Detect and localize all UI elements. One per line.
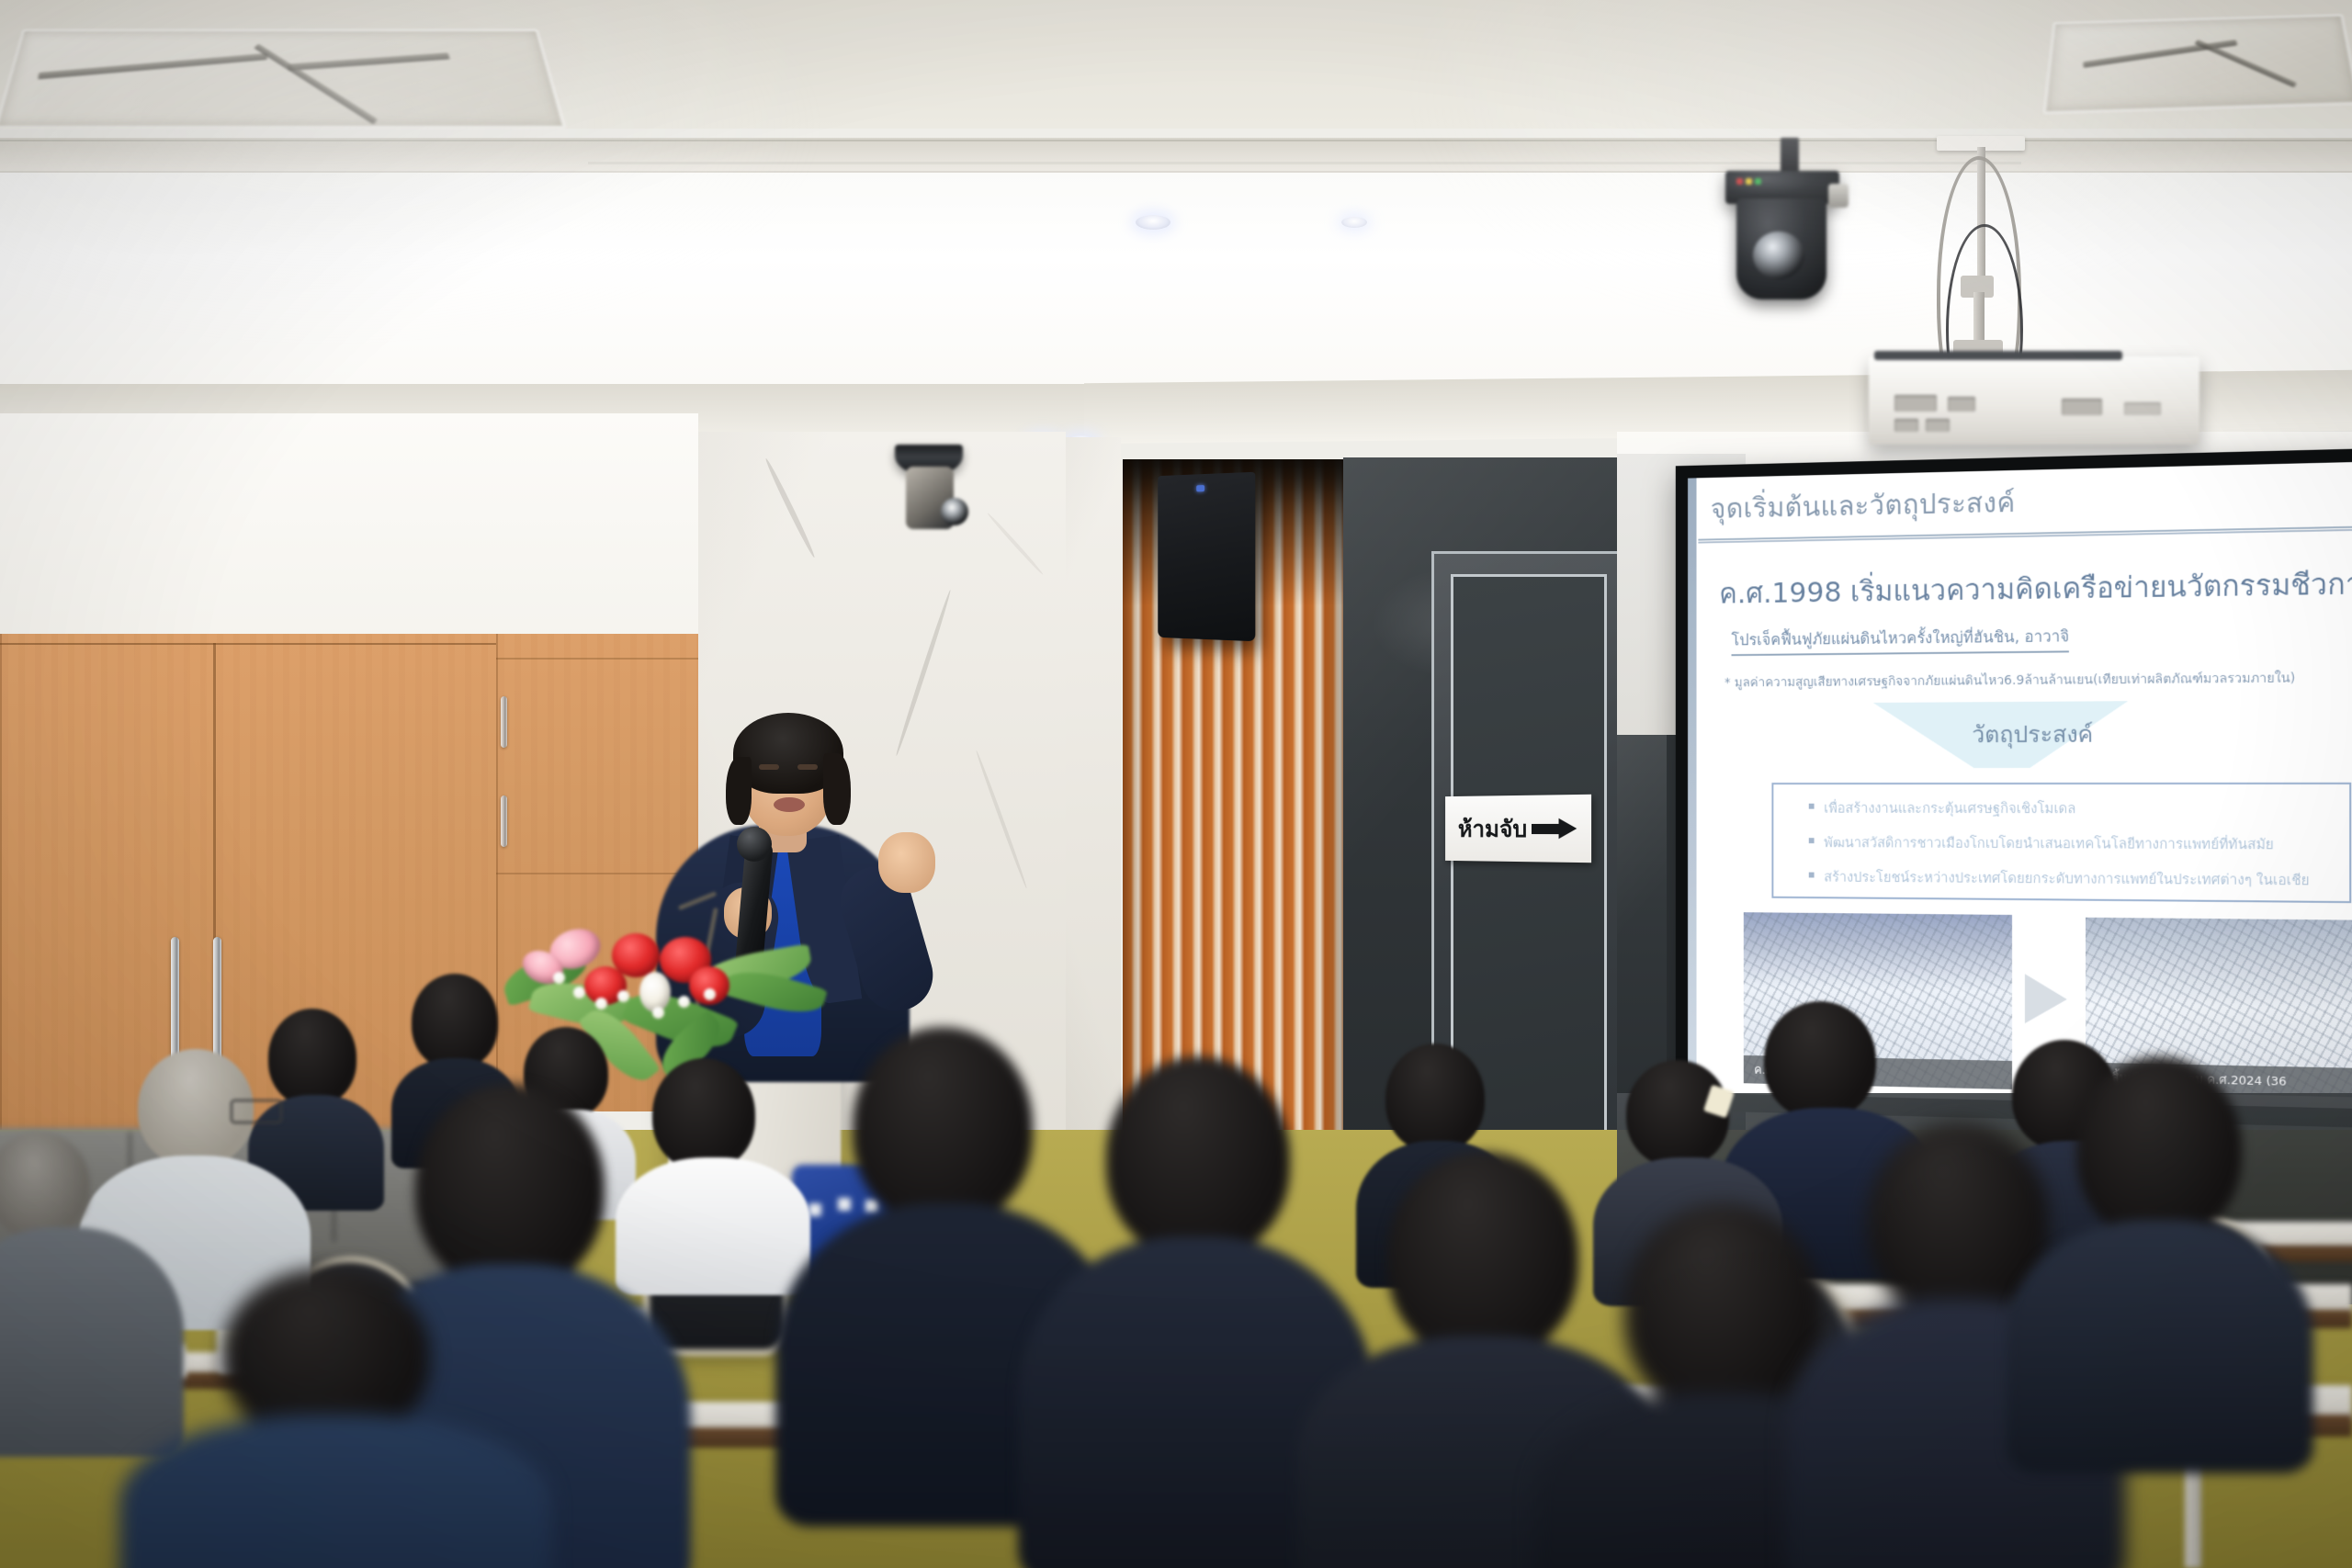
audience-person <box>2034 1056 2282 1451</box>
wall-speaker <box>1158 472 1255 642</box>
ceiling-projector <box>1869 356 2199 445</box>
speaker-led-icon <box>1196 485 1204 491</box>
audience-person <box>147 1268 514 1568</box>
objective-text: พัฒนาสวัสดิการชาวเมืองโกเบโดยนำเสนอเทคโน… <box>1824 831 2274 855</box>
slide-title: จุดเริ่มต้นและวัตถุประสงค์ <box>1711 481 2016 531</box>
bullet-icon <box>1809 804 1815 809</box>
microphone-head-icon <box>737 827 772 862</box>
objective-text: เพื่อสร้างงานและกระตุ้นเศรษฐกิจเชิงโมเดล <box>1824 797 2075 819</box>
ceiling-ac-vent <box>0 29 566 129</box>
bullet-icon <box>1809 838 1815 843</box>
conference-hall-photo: ห้ามจับ จุดเริ่มต้นและวัตถุประสงค์ <box>0 0 2352 1568</box>
pillar-ptz-camera <box>882 445 992 546</box>
objectives-box: เพื่อสร้างงานและกระตุ้นเศรษฐกิจเชิงโมเดล… <box>1771 783 2351 903</box>
warning-sign-label: ห้ามจับ <box>1458 817 1527 840</box>
objective-item: เพื่อสร้างงานและกระตุ้นเศรษฐกิจเชิงโมเดล <box>1809 797 2076 819</box>
slide-heading: ค.ศ.1998 เริ่มแนวความคิดเครือข่ายนวัตกรร… <box>1719 555 2352 615</box>
right-arrow-icon <box>1532 818 1577 840</box>
flower-white <box>639 972 671 1012</box>
slide-accent-bar <box>1688 478 1696 1092</box>
objective-item: พัฒนาสวัสดิการชาวเมืองโกเบโดยนำเสนอเทคโน… <box>1809 831 2274 855</box>
ceiling-ptz-camera <box>1709 138 1893 331</box>
bullet-icon <box>1809 873 1815 878</box>
camera-lens-icon <box>1753 231 1804 279</box>
warning-sign-no-touch: ห้ามจับ <box>1445 795 1591 863</box>
ceiling-ac-vent-right <box>2043 14 2352 114</box>
slide-subheading: โปรเจ็คฟื้นฟูภัยแผ่นดินไหวครั้งใหญ่ที่ฮั… <box>1732 624 2070 656</box>
presenter-hand <box>878 832 935 893</box>
objective-text: สร้างประโยชน์ระหว่างประเทศโดยยกระดับทางก… <box>1824 866 2310 892</box>
slide-arrow-icon <box>2025 974 2067 1024</box>
projector-arm <box>1973 292 1984 347</box>
slide-note: * มูลค่าความสูญเสียทางเศรษฐกิจจากภัยแผ่น… <box>1724 668 2295 693</box>
objective-item: สร้างประโยชน์ระหว่างประเทศโดยยกระดับทางก… <box>1809 866 2310 892</box>
audience-person <box>1055 1056 1330 1568</box>
chevron-label: วัตถุประสงค์ <box>1972 716 2093 754</box>
downlight-3 <box>1136 215 1170 230</box>
downlight-4 <box>1341 217 1367 228</box>
camera-lens-icon <box>941 498 968 525</box>
eyeglasses-icon <box>230 1099 283 1124</box>
